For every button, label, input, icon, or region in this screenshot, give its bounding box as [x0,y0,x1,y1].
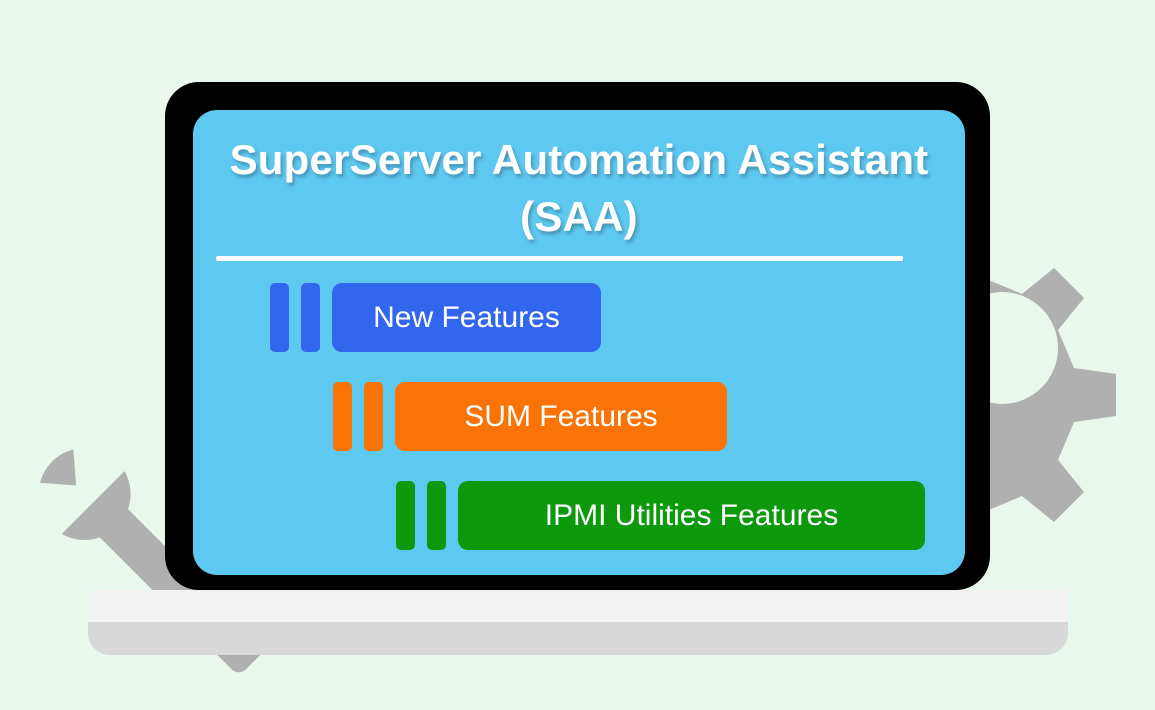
accent-bar [301,283,320,352]
ipmi-utilities-features-button[interactable]: IPMI Utilities Features [458,481,925,550]
row-accent-bars-sum-features [333,382,383,451]
laptop-screen: SuperServer Automation Assistant (SAA) N… [193,110,965,575]
feature-row-sum-features: SUM Features [333,382,727,451]
feature-row-new-features: New Features [270,283,601,352]
accent-bar [270,283,289,352]
slide-canvas: SuperServer Automation Assistant (SAA) N… [0,0,1155,710]
laptop-base-lip [88,622,1068,655]
accent-bar [333,382,352,451]
page-title: SuperServer Automation Assistant (SAA) [193,132,965,245]
feature-row-ipmi-features: IPMI Utilities Features [396,481,925,550]
sum-features-button[interactable]: SUM Features [395,382,727,451]
accent-bar [427,481,446,550]
new-features-button[interactable]: New Features [332,283,601,352]
laptop-deck [88,590,1068,623]
row-accent-bars-new-features [270,283,320,352]
laptop-bezel: SuperServer Automation Assistant (SAA) N… [165,82,990,590]
accent-bar [396,481,415,550]
accent-bar [364,382,383,451]
row-accent-bars-ipmi-features [396,481,446,550]
title-divider [216,256,903,261]
